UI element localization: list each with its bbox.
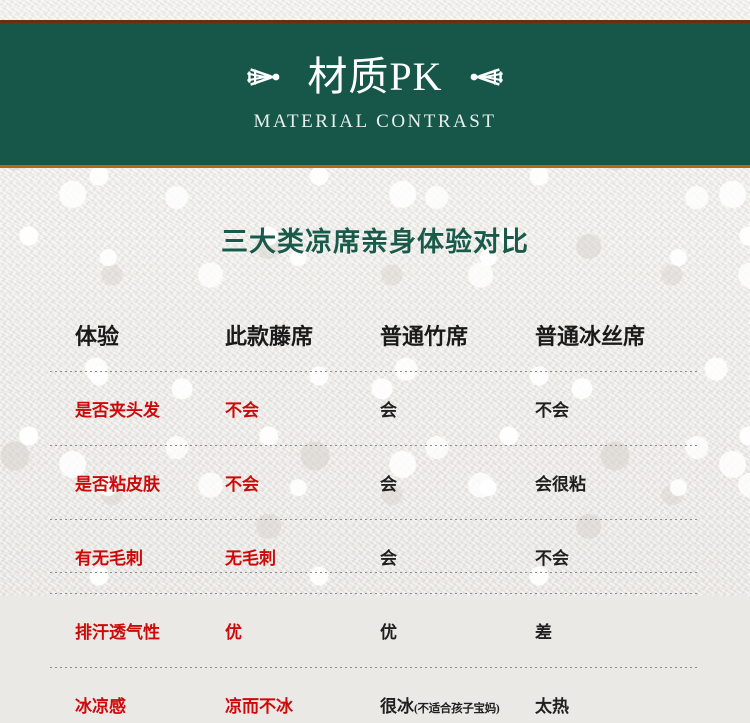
column-header-experience: 体验	[50, 316, 225, 353]
cell-bamboo-coolness-value: 很冰	[380, 697, 414, 716]
banner-title-row: 材质PK	[245, 57, 504, 97]
cell-this-product-coolness: 凉而不冰	[225, 686, 380, 723]
table-header-row: 体验 此款藤席 普通竹席 普通冰丝席	[50, 316, 700, 353]
fleuron-arrow-right-icon	[245, 60, 285, 94]
row-separator	[50, 353, 700, 390]
column-header-ordinary-bamboo-mat: 普通竹席	[380, 316, 535, 353]
fleuron-arrow-left-icon	[465, 60, 505, 94]
cell-bamboo-hair-catching: 会	[380, 390, 535, 427]
column-header-this-rattan-mat: 此款藤席	[225, 316, 380, 353]
row-label-coolness: 冰凉感	[50, 686, 225, 723]
cell-this-product-burrs: 无毛刺	[225, 538, 380, 575]
page-title: 材质PK	[307, 57, 442, 97]
row-label-skin-sticking: 是否粘皮肤	[50, 464, 225, 501]
content-area: 三大类凉席亲身体验对比 体验 此款藤席 普通竹席 普通冰丝席 是否夹头发 不会 …	[0, 168, 750, 596]
cell-ice-silk-coolness: 太热	[535, 686, 700, 723]
cell-ice-silk-breathability: 差	[535, 612, 700, 649]
cell-this-product-skin-sticking: 不会	[225, 464, 380, 501]
row-label-breathability: 排汗透气性	[50, 612, 225, 649]
table-row: 冰凉感 凉而不冰 很冰(不适合孩子宝妈) 太热	[50, 686, 700, 723]
cell-ice-silk-hair-catching: 不会	[535, 390, 700, 427]
row-label-burrs: 有无毛刺	[50, 538, 225, 575]
cell-bamboo-burrs: 会	[380, 538, 535, 575]
table-row: 排汗透气性 优 优 差	[50, 612, 700, 649]
table-row: 是否夹头发 不会 会 不会	[50, 390, 700, 427]
cell-ice-silk-burrs: 不会	[535, 538, 700, 575]
row-separator	[50, 501, 700, 538]
cell-this-product-breathability: 优	[225, 612, 380, 649]
table-row: 是否粘皮肤 不会 会 会很粘	[50, 464, 700, 501]
material-comparison-table: 体验 此款藤席 普通竹席 普通冰丝席 是否夹头发 不会 会 不会 是否粘皮肤 不…	[50, 316, 700, 723]
row-separator	[50, 575, 700, 612]
row-separator	[50, 427, 700, 464]
row-separator	[50, 649, 700, 686]
column-header-ordinary-ice-silk-mat: 普通冰丝席	[535, 316, 700, 353]
cell-bamboo-coolness-note: (不适合孩子宝妈)	[414, 703, 499, 715]
cell-this-product-hair-catching: 不会	[225, 390, 380, 427]
cell-bamboo-breathability: 优	[380, 612, 535, 649]
cell-bamboo-coolness: 很冰(不适合孩子宝妈)	[380, 686, 535, 723]
cell-ice-silk-skin-sticking: 会很粘	[535, 464, 700, 501]
cell-bamboo-skin-sticking: 会	[380, 464, 535, 501]
page-subtitle: MATERIAL CONTRAST	[254, 111, 497, 133]
header-banner: 材质PK MATERIAL CONTRAST	[0, 20, 750, 168]
table-bottom-rule	[50, 572, 700, 573]
table-row: 有无毛刺 无毛刺 会 不会	[50, 538, 700, 575]
section-heading: 三大类凉席亲身体验对比	[0, 220, 750, 259]
row-label-hair-catching: 是否夹头发	[50, 390, 225, 427]
